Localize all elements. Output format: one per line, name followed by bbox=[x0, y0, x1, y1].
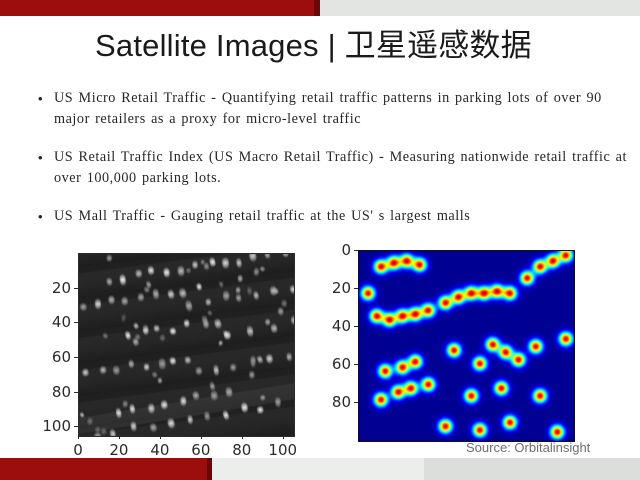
bullet-list: • US Micro Retail Traffic - Quantifying … bbox=[38, 88, 628, 245]
top-decor-bar-red bbox=[0, 0, 320, 16]
bottom-decor-bar-gray bbox=[424, 458, 640, 480]
axis-tick-mark-x bbox=[119, 435, 120, 439]
axis-tick-label-y: 0 bbox=[330, 241, 351, 259]
axis-tick-mark-y bbox=[354, 288, 358, 289]
list-item-text: US Retail Traffic Index (US Macro Retail… bbox=[54, 147, 628, 188]
list-item: • US Micro Retail Traffic - Quantifying … bbox=[38, 88, 628, 129]
bullet-marker-icon: • bbox=[38, 88, 54, 109]
axis-tick-mark-y bbox=[74, 392, 78, 393]
axis-tick-label-x: 20 bbox=[109, 441, 128, 459]
page-title: Satellite Images | 卫星遥感数据 bbox=[95, 20, 532, 65]
list-item-text: US Mall Traffic - Gauging retail traffic… bbox=[54, 206, 628, 227]
axis-tick-label-y: 20 bbox=[22, 279, 71, 297]
axis-tick-label-x: 100 bbox=[268, 441, 297, 459]
axis-tick-mark-y bbox=[74, 322, 78, 323]
axis-tick-mark-y bbox=[354, 326, 358, 327]
axis-tick-mark-x bbox=[283, 435, 284, 439]
axis-tick-mark-y bbox=[354, 250, 358, 251]
axis-tick-label-x: 40 bbox=[150, 441, 169, 459]
vehicle-density-heatmap bbox=[358, 250, 575, 442]
list-item-text: US Micro Retail Traffic - Quantifying re… bbox=[54, 88, 628, 129]
bullet-marker-icon: • bbox=[38, 147, 54, 168]
source-caption: Source: Orbitalinsight bbox=[466, 440, 590, 455]
satellite-parking-lot-image bbox=[78, 253, 295, 437]
axis-tick-label-x: 0 bbox=[73, 441, 83, 459]
axis-tick-label-x: 80 bbox=[232, 441, 251, 459]
list-item: • US Mall Traffic - Gauging retail traff… bbox=[38, 206, 628, 227]
axis-tick-mark-y bbox=[74, 357, 78, 358]
axis-tick-mark-x bbox=[201, 435, 202, 439]
axis-tick-label-x: 60 bbox=[191, 441, 210, 459]
axis-tick-label-y: 100 bbox=[22, 417, 71, 435]
axis-tick-mark-y bbox=[74, 288, 78, 289]
axis-tick-label-y: 80 bbox=[22, 383, 71, 401]
bullet-marker-icon: • bbox=[38, 206, 54, 227]
axis-tick-mark-y bbox=[354, 402, 358, 403]
axis-tick-label-y: 80 bbox=[330, 393, 351, 411]
top-decor-bar bbox=[0, 0, 640, 16]
axis-tick-label-y: 40 bbox=[330, 317, 351, 335]
bottom-decor-bar bbox=[0, 458, 640, 480]
list-item: • US Retail Traffic Index (US Macro Reta… bbox=[38, 147, 628, 188]
axis-tick-mark-x bbox=[242, 435, 243, 439]
heatmap-figure: 020406080 bbox=[330, 243, 585, 448]
axis-tick-mark-y bbox=[74, 426, 78, 427]
axis-tick-mark-x bbox=[78, 435, 79, 439]
slide: Satellite Images | 卫星遥感数据 • US Micro Ret… bbox=[0, 0, 640, 480]
satellite-image-figure: 20406080100020406080100 bbox=[22, 246, 307, 458]
axis-tick-label-y: 60 bbox=[330, 355, 351, 373]
axis-tick-mark-y bbox=[354, 364, 358, 365]
axis-tick-label-y: 40 bbox=[22, 313, 71, 331]
bottom-decor-bar-red bbox=[0, 458, 212, 480]
axis-tick-label-y: 60 bbox=[22, 348, 71, 366]
axis-tick-mark-x bbox=[160, 435, 161, 439]
axis-tick-label-y: 20 bbox=[330, 279, 351, 297]
